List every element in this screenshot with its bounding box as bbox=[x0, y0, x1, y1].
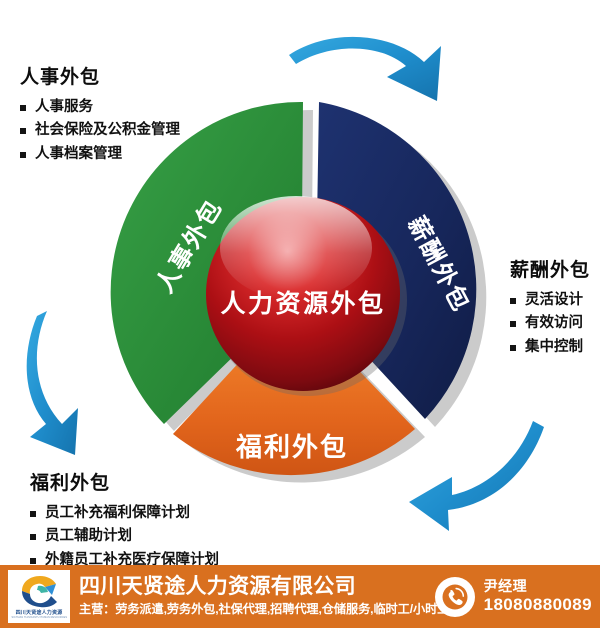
segment-benefit-label: 福利外包 bbox=[235, 432, 348, 462]
logo-chinese-name: 四川天贤途人力资源 bbox=[16, 609, 63, 616]
list-item-label: 员工辅助计划 bbox=[45, 528, 132, 544]
bullet-square-icon bbox=[510, 298, 516, 304]
callout-payroll-list: 灵活设计 有效访问 集中控制 bbox=[508, 289, 590, 359]
callout-hr-title: 人事外包 bbox=[20, 62, 180, 89]
list-item-label: 员工补充福利保障计划 bbox=[45, 505, 190, 521]
contact-lines: 尹经理 18080880089 bbox=[484, 578, 592, 615]
arrow-left-icon bbox=[27, 311, 78, 455]
bullet-square-icon bbox=[20, 105, 26, 111]
arrow-bottom-right-icon bbox=[409, 421, 544, 531]
callout-hr: 人事外包 人事服务 社会保险及公积金管理 人事档案管理 bbox=[18, 62, 180, 166]
center-sphere-label: 人力资源外包 bbox=[220, 289, 385, 318]
list-item-label: 集中控制 bbox=[525, 339, 583, 355]
bullet-square-icon bbox=[20, 152, 26, 158]
company-logo: 四川天贤途人力资源 SICHUAN TIANXIANTU HUMAN RESOU… bbox=[8, 570, 70, 623]
callout-benefit: 福利外包 员工补充福利保障计划 员工辅助计划 外籍员工补充医疗保障计划 bbox=[28, 468, 219, 572]
footer-company-block: 四川天贤途人力资源有限公司 主营：劳务派遣,劳务外包,社保代理,招聘代理,仓储服… bbox=[79, 575, 429, 617]
callout-hr-list: 人事服务 社会保险及公积金管理 人事档案管理 bbox=[18, 96, 180, 166]
footer-bar: 四川天贤途人力资源 SICHUAN TIANXIANTU HUMAN RESOU… bbox=[0, 565, 600, 628]
list-item: 有效访问 bbox=[508, 312, 590, 335]
bullet-square-icon bbox=[30, 534, 36, 540]
callout-benefit-list: 员工补充福利保障计划 员工辅助计划 外籍员工补充医疗保障计划 bbox=[28, 502, 219, 572]
poster-root: 人事外包 薪酬外包 福利外包 人力资源外包 bbox=[0, 0, 600, 628]
list-item: 员工辅助计划 bbox=[28, 525, 219, 548]
list-item: 人事服务 bbox=[18, 96, 180, 119]
callout-payroll: 薪酬外包 灵活设计 有效访问 集中控制 bbox=[508, 255, 590, 359]
list-item: 员工补充福利保障计划 bbox=[28, 502, 219, 525]
bullet-square-icon bbox=[510, 321, 516, 327]
bullet-square-icon bbox=[510, 345, 516, 351]
bullet-square-icon bbox=[30, 511, 36, 517]
list-item-label: 有效访问 bbox=[525, 315, 583, 331]
callout-benefit-title: 福利外包 bbox=[30, 468, 219, 495]
callout-payroll-title: 薪酬外包 bbox=[510, 255, 590, 282]
list-item: 人事档案管理 bbox=[18, 143, 180, 166]
business-scope: 主营：劳务派遣,劳务外包,社保代理,招聘代理,仓储服务,临时工/小时工 bbox=[79, 602, 429, 617]
bullet-square-icon bbox=[30, 558, 36, 564]
list-item-label: 灵活设计 bbox=[525, 292, 583, 308]
bullet-square-icon bbox=[20, 128, 26, 134]
list-item-label: 人事档案管理 bbox=[35, 146, 122, 162]
list-item: 社会保险及公积金管理 bbox=[18, 119, 180, 142]
contact-phone[interactable]: 18080880089 bbox=[484, 595, 592, 615]
logo-english-name: SICHUAN TIANXIANTU HUMAN RESOURCES bbox=[11, 616, 67, 619]
list-item-label: 人事服务 bbox=[35, 99, 93, 115]
list-item: 集中控制 bbox=[508, 336, 590, 359]
footer-contact-block[interactable]: 尹经理 18080880089 bbox=[435, 577, 592, 617]
contact-person: 尹经理 bbox=[484, 578, 592, 595]
list-item: 灵活设计 bbox=[508, 289, 590, 312]
logo-mark-icon bbox=[19, 575, 59, 608]
phone-icon bbox=[435, 577, 475, 617]
list-item-label: 社会保险及公积金管理 bbox=[35, 122, 180, 138]
company-name: 四川天贤途人力资源有限公司 bbox=[79, 575, 429, 599]
arrow-top-icon bbox=[289, 37, 441, 101]
